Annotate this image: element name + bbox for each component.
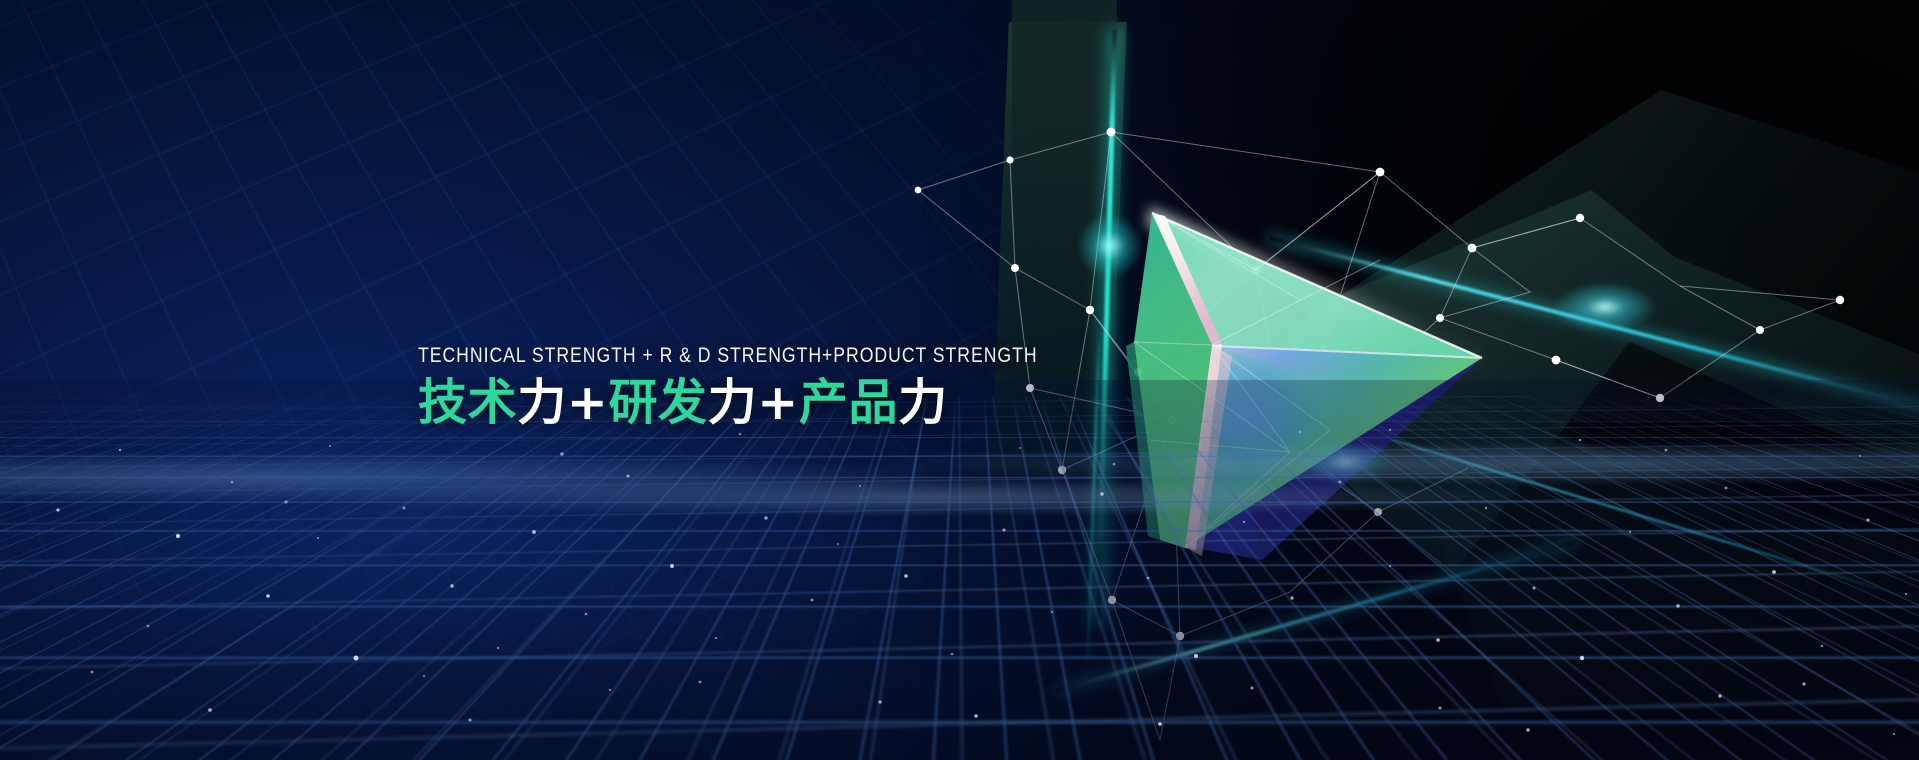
headline-segment-0: 技术 [418,374,517,431]
headline-segment-4: 力 [708,374,758,431]
headline-segment-7: 力 [898,374,948,431]
hero-eyebrow-text: TECHNICAL STRENGTH + R & D STRENGTH+PROD… [418,343,1038,368]
wireframe-terrain-icon [0,396,1919,760]
hero-headline: 技术力+研发力+产品力 [418,374,1174,432]
headline-segment-2: + [567,374,609,431]
headline-segment-6: 产品 [799,374,898,431]
headline-segment-5: + [757,374,799,431]
hero-text-block: TECHNICAL STRENGTH + R & D STRENGTH+PROD… [418,343,1174,432]
headline-segment-3: 研发 [608,374,707,431]
headline-segment-1: 力 [517,374,567,431]
hero-banner: TECHNICAL STRENGTH + R & D STRENGTH+PROD… [0,0,1919,760]
